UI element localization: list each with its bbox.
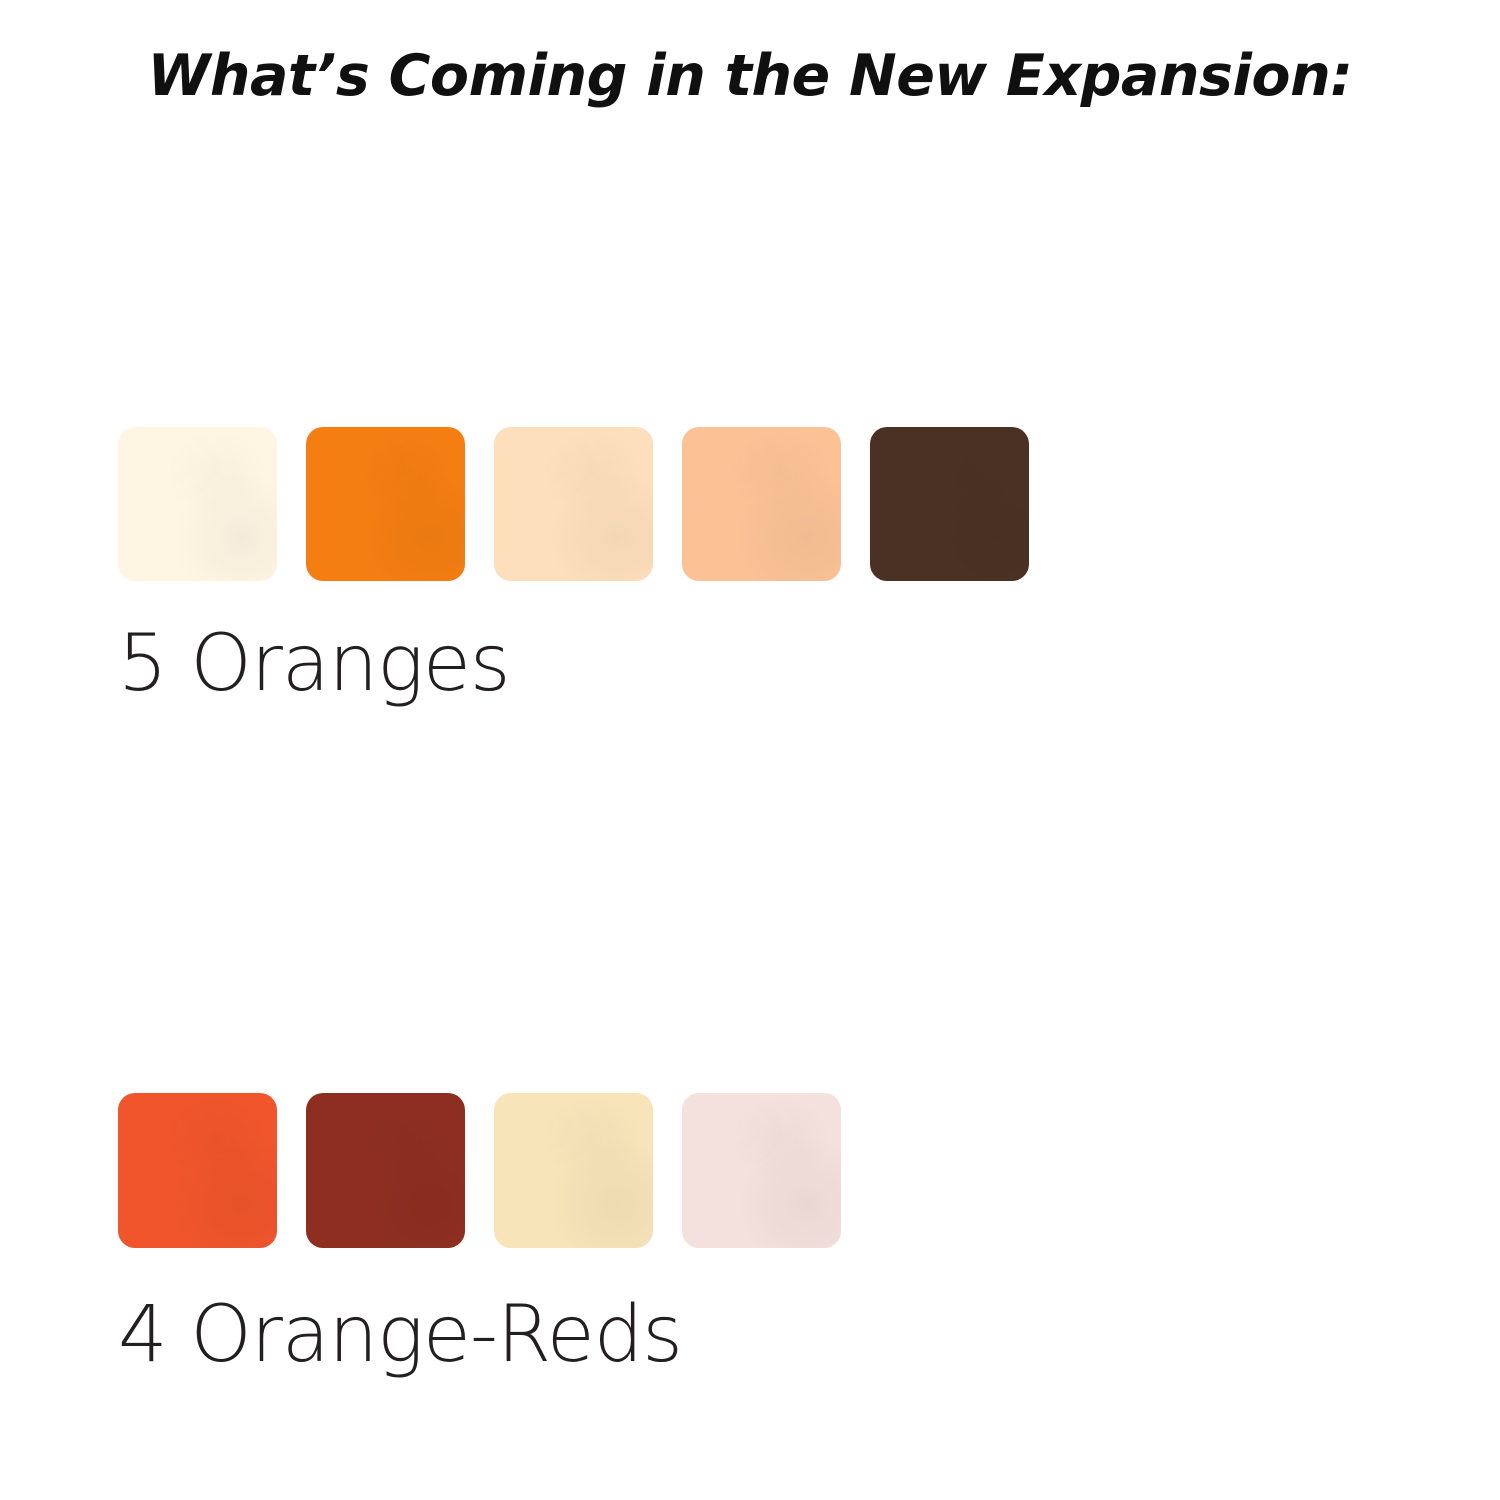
color-swatch-pale-blush-pink[interactable] bbox=[682, 1093, 841, 1248]
color-swatch-bright-orange-red[interactable] bbox=[118, 1093, 277, 1248]
palette-group-orange-reds: 4 Orange-Reds bbox=[118, 1093, 841, 1374]
color-swatch-dark-brick-red[interactable] bbox=[306, 1093, 465, 1248]
palette-group-label-oranges: 5 Oranges bbox=[118, 625, 1029, 703]
swatch-row-orange-reds bbox=[118, 1093, 841, 1248]
swatch-row-oranges bbox=[118, 427, 1029, 581]
color-swatch-pale-wheat-cream[interactable] bbox=[494, 1093, 653, 1248]
palette-group-oranges: 5 Oranges bbox=[118, 427, 1029, 703]
page-title: What’s Coming in the New Expansion: bbox=[0, 44, 1500, 110]
color-swatch-dark-coffee-brown[interactable] bbox=[870, 427, 1029, 581]
color-swatch-soft-apricot[interactable] bbox=[682, 427, 841, 581]
color-swatch-cream-white[interactable] bbox=[118, 427, 277, 581]
color-swatch-vivid-orange[interactable] bbox=[306, 427, 465, 581]
palette-poster: What’s Coming in the New Expansion: 5 Or… bbox=[0, 0, 1500, 1500]
color-swatch-light-peach[interactable] bbox=[494, 427, 653, 581]
palette-group-label-orange-reds: 4 Orange-Reds bbox=[118, 1296, 841, 1374]
